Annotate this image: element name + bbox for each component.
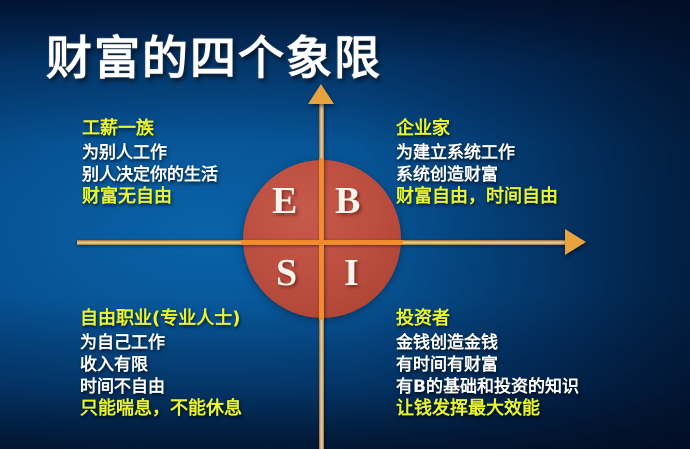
quadrant-line: 时间不自由: [80, 376, 242, 398]
quadrant-heading-self-employed: 自由职业(专业人士): [80, 308, 242, 330]
quadrant-line: 为建立系统工作: [396, 142, 558, 164]
quadrant-line: 为别人工作: [82, 142, 218, 164]
slide-canvas: 财富的四个象限 E B S I 工薪一族 为别人工作 别人决定你的生活 财富无自…: [0, 0, 690, 449]
quadrant-line: 系统创造财富: [396, 164, 558, 186]
quadrant-block-employee: 工薪一族 为别人工作 别人决定你的生活 财富无自由: [82, 118, 218, 208]
quadrant-heading-employee: 工薪一族: [82, 118, 218, 140]
quadrant-line: 有B的基础和投资的知识: [396, 376, 579, 398]
quadrant-heading-investor: 投资者: [396, 308, 579, 330]
quadrant-emphasis-self-employed: 只能喘息，不能休息: [80, 398, 242, 420]
arrow-right-icon: [565, 229, 586, 255]
quadrant-line: 有时间有财富: [396, 354, 579, 376]
page-title: 财富的四个象限: [46, 22, 382, 88]
quadrant-letter-b: B: [335, 182, 360, 220]
quadrant-line: 收入有限: [80, 354, 242, 376]
quadrant-line: 别人决定你的生活: [82, 164, 218, 186]
quadrant-line: 金钱创造金钱: [396, 332, 579, 354]
quadrant-emphasis-investor: 让钱发挥最大效能: [396, 398, 579, 420]
circle-divider-horizontal: [241, 240, 403, 245]
quadrant-letter-i: I: [344, 254, 359, 292]
quadrant-line: 为自己工作: [80, 332, 242, 354]
quadrant-letter-e: E: [272, 182, 297, 220]
quadrant-emphasis-employee: 财富无自由: [82, 186, 218, 208]
quadrant-heading-business-owner: 企业家: [396, 118, 558, 140]
quadrant-block-business-owner: 企业家 为建立系统工作 系统创造财富 财富自由，时间自由: [396, 118, 558, 208]
quadrant-block-self-employed: 自由职业(专业人士) 为自己工作 收入有限 时间不自由 只能喘息，不能休息: [80, 308, 242, 420]
circle-divider-vertical: [319, 158, 324, 320]
quadrant-block-investor: 投资者 金钱创造金钱 有时间有财富 有B的基础和投资的知识 让钱发挥最大效能: [396, 308, 579, 420]
quadrant-letter-s: S: [276, 254, 297, 292]
quadrant-emphasis-business-owner: 财富自由，时间自由: [396, 186, 558, 208]
